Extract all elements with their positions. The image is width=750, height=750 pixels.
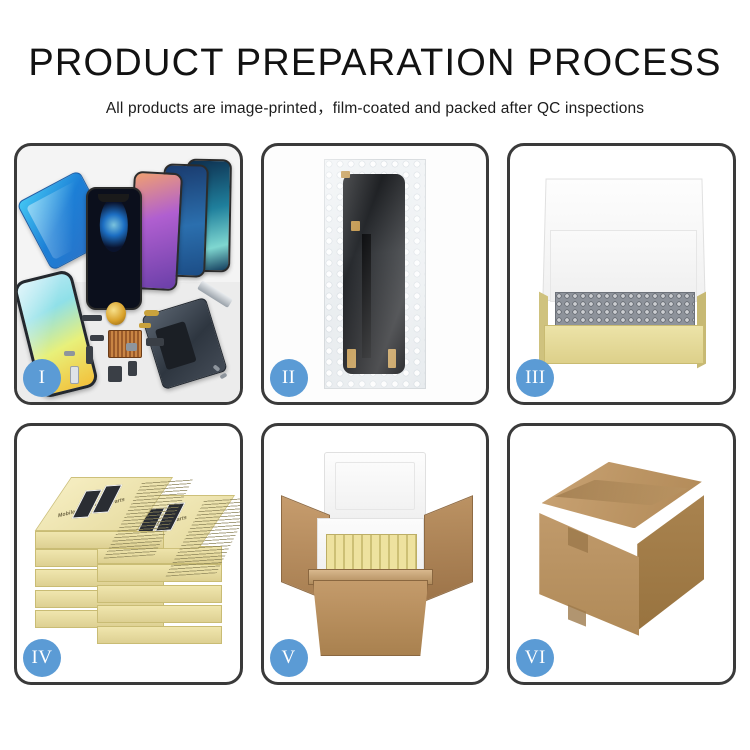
page-header: PRODUCT PREPARATION PROCESS All products… xyxy=(0,0,750,118)
tape-tab-bottom-right-icon xyxy=(388,349,396,367)
carton-left-face-icon xyxy=(539,513,639,636)
page-subtitle: All products are image-printed，film-coat… xyxy=(0,96,750,118)
stacked-box-r3 xyxy=(97,585,222,603)
stacked-box-r5 xyxy=(97,626,222,644)
process-step-panel-1: I xyxy=(14,143,243,405)
part-connector-icon xyxy=(90,335,103,340)
screen-flex-cable-icon xyxy=(362,234,372,359)
step-badge-4: IV xyxy=(23,639,61,677)
foam-cooler-lid-icon xyxy=(324,452,426,521)
step-badge-5: V xyxy=(270,639,308,677)
step-badge-1: I xyxy=(23,359,61,397)
part-metal-strip-icon xyxy=(64,351,75,356)
product-preparation-process-page: PRODUCT PREPARATION PROCESS All products… xyxy=(0,0,750,750)
carton-body-icon xyxy=(313,580,429,657)
bubble-wrap-bag-icon xyxy=(324,159,426,389)
part-speaker-icon xyxy=(82,315,102,321)
process-step-panel-5: V xyxy=(261,423,490,685)
part-camera-module-icon xyxy=(70,366,79,384)
process-step-panel-6: VI xyxy=(507,423,736,685)
tape-tab-bottom-left-icon xyxy=(347,349,356,367)
phone-glass-panel-icon xyxy=(86,187,142,310)
stacked-box-r4 xyxy=(97,605,222,623)
tape-tab-top-icon xyxy=(341,171,350,178)
process-step-panel-4: Mobile Phone Spare Parts Mobile Phone Sp… xyxy=(14,423,243,685)
step-badge-2: II xyxy=(270,359,308,397)
carton-flap-right-icon xyxy=(424,495,473,602)
part-shield-icon xyxy=(126,343,137,351)
part-vibrator-icon xyxy=(108,366,121,381)
bubble-wrapped-contents-icon xyxy=(555,292,695,328)
part-battery-connector-icon xyxy=(128,361,137,376)
page-title: PRODUCT PREPARATION PROCESS xyxy=(0,44,750,84)
box-front-panel-icon xyxy=(544,325,704,363)
process-step-panel-3: III xyxy=(507,143,736,405)
process-steps-grid: I II xyxy=(14,143,736,685)
part-bracket-icon xyxy=(86,346,93,364)
tape-tab-mid-icon xyxy=(351,221,360,230)
lcd-screen-icon xyxy=(343,174,405,375)
part-gold-clip-icon xyxy=(139,323,150,328)
part-gold-flex-icon xyxy=(144,310,160,317)
process-step-panel-2: II xyxy=(261,143,490,405)
part-flex-cable-icon xyxy=(146,338,164,346)
